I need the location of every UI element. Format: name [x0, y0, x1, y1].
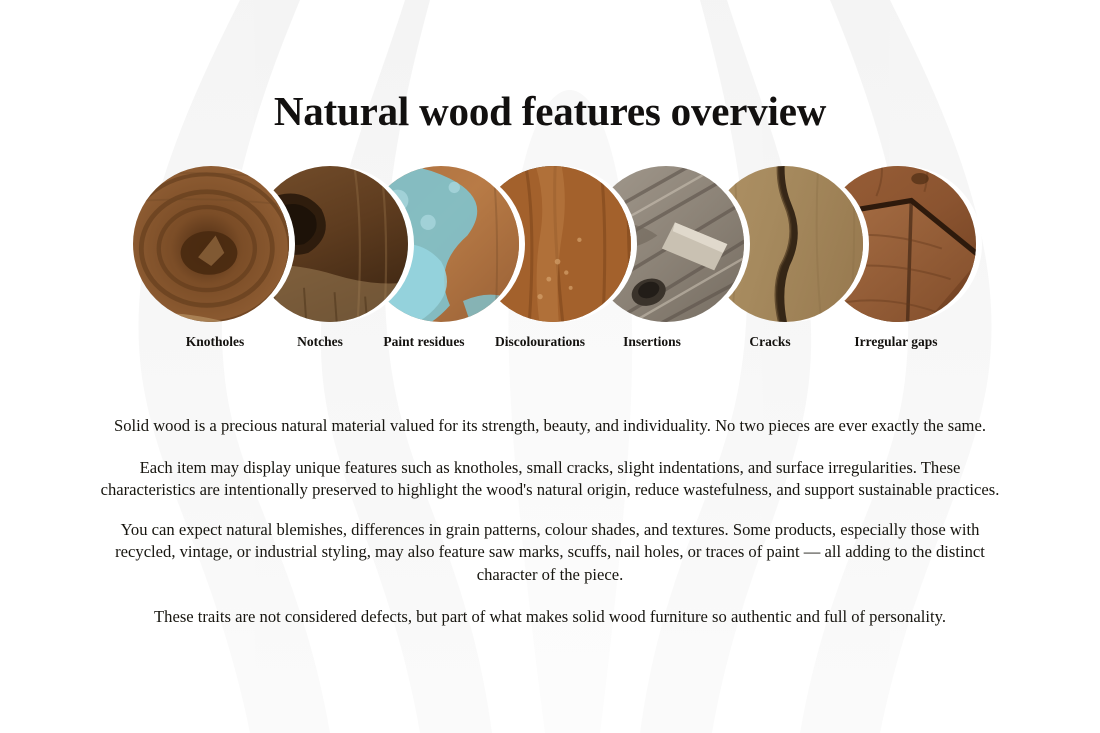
feature-label-paint-residues: Paint residues — [383, 334, 464, 350]
body-copy: Solid wood is a precious natural materia… — [98, 415, 1003, 628]
feature-label-discolourations: Discolourations — [495, 334, 585, 350]
body-paragraph-3: You can expect natural blemishes, differ… — [98, 519, 1003, 587]
feature-label-irregular-gaps: Irregular gaps — [854, 334, 937, 350]
feature-label-notches: Notches — [297, 334, 343, 350]
body-paragraph-2: Each item may display unique features su… — [98, 457, 1003, 502]
body-paragraph-4: These traits are not considered defects,… — [98, 606, 1003, 629]
body-paragraph-1: Solid wood is a precious natural materia… — [98, 415, 1003, 438]
feature-label-row: Knotholes Notches Paint residues Discolo… — [0, 334, 1100, 356]
feature-label-cracks: Cracks — [749, 334, 790, 350]
feature-label-knotholes: Knotholes — [186, 334, 245, 350]
feature-label-insertions: Insertions — [623, 334, 681, 350]
feature-circle-knotholes — [133, 166, 289, 322]
poster-root: Natural wood features overview — [0, 0, 1100, 733]
feature-circle-strip — [0, 166, 1100, 328]
page-title: Natural wood features overview — [0, 87, 1100, 135]
wood-knothole-circle — [133, 166, 289, 322]
